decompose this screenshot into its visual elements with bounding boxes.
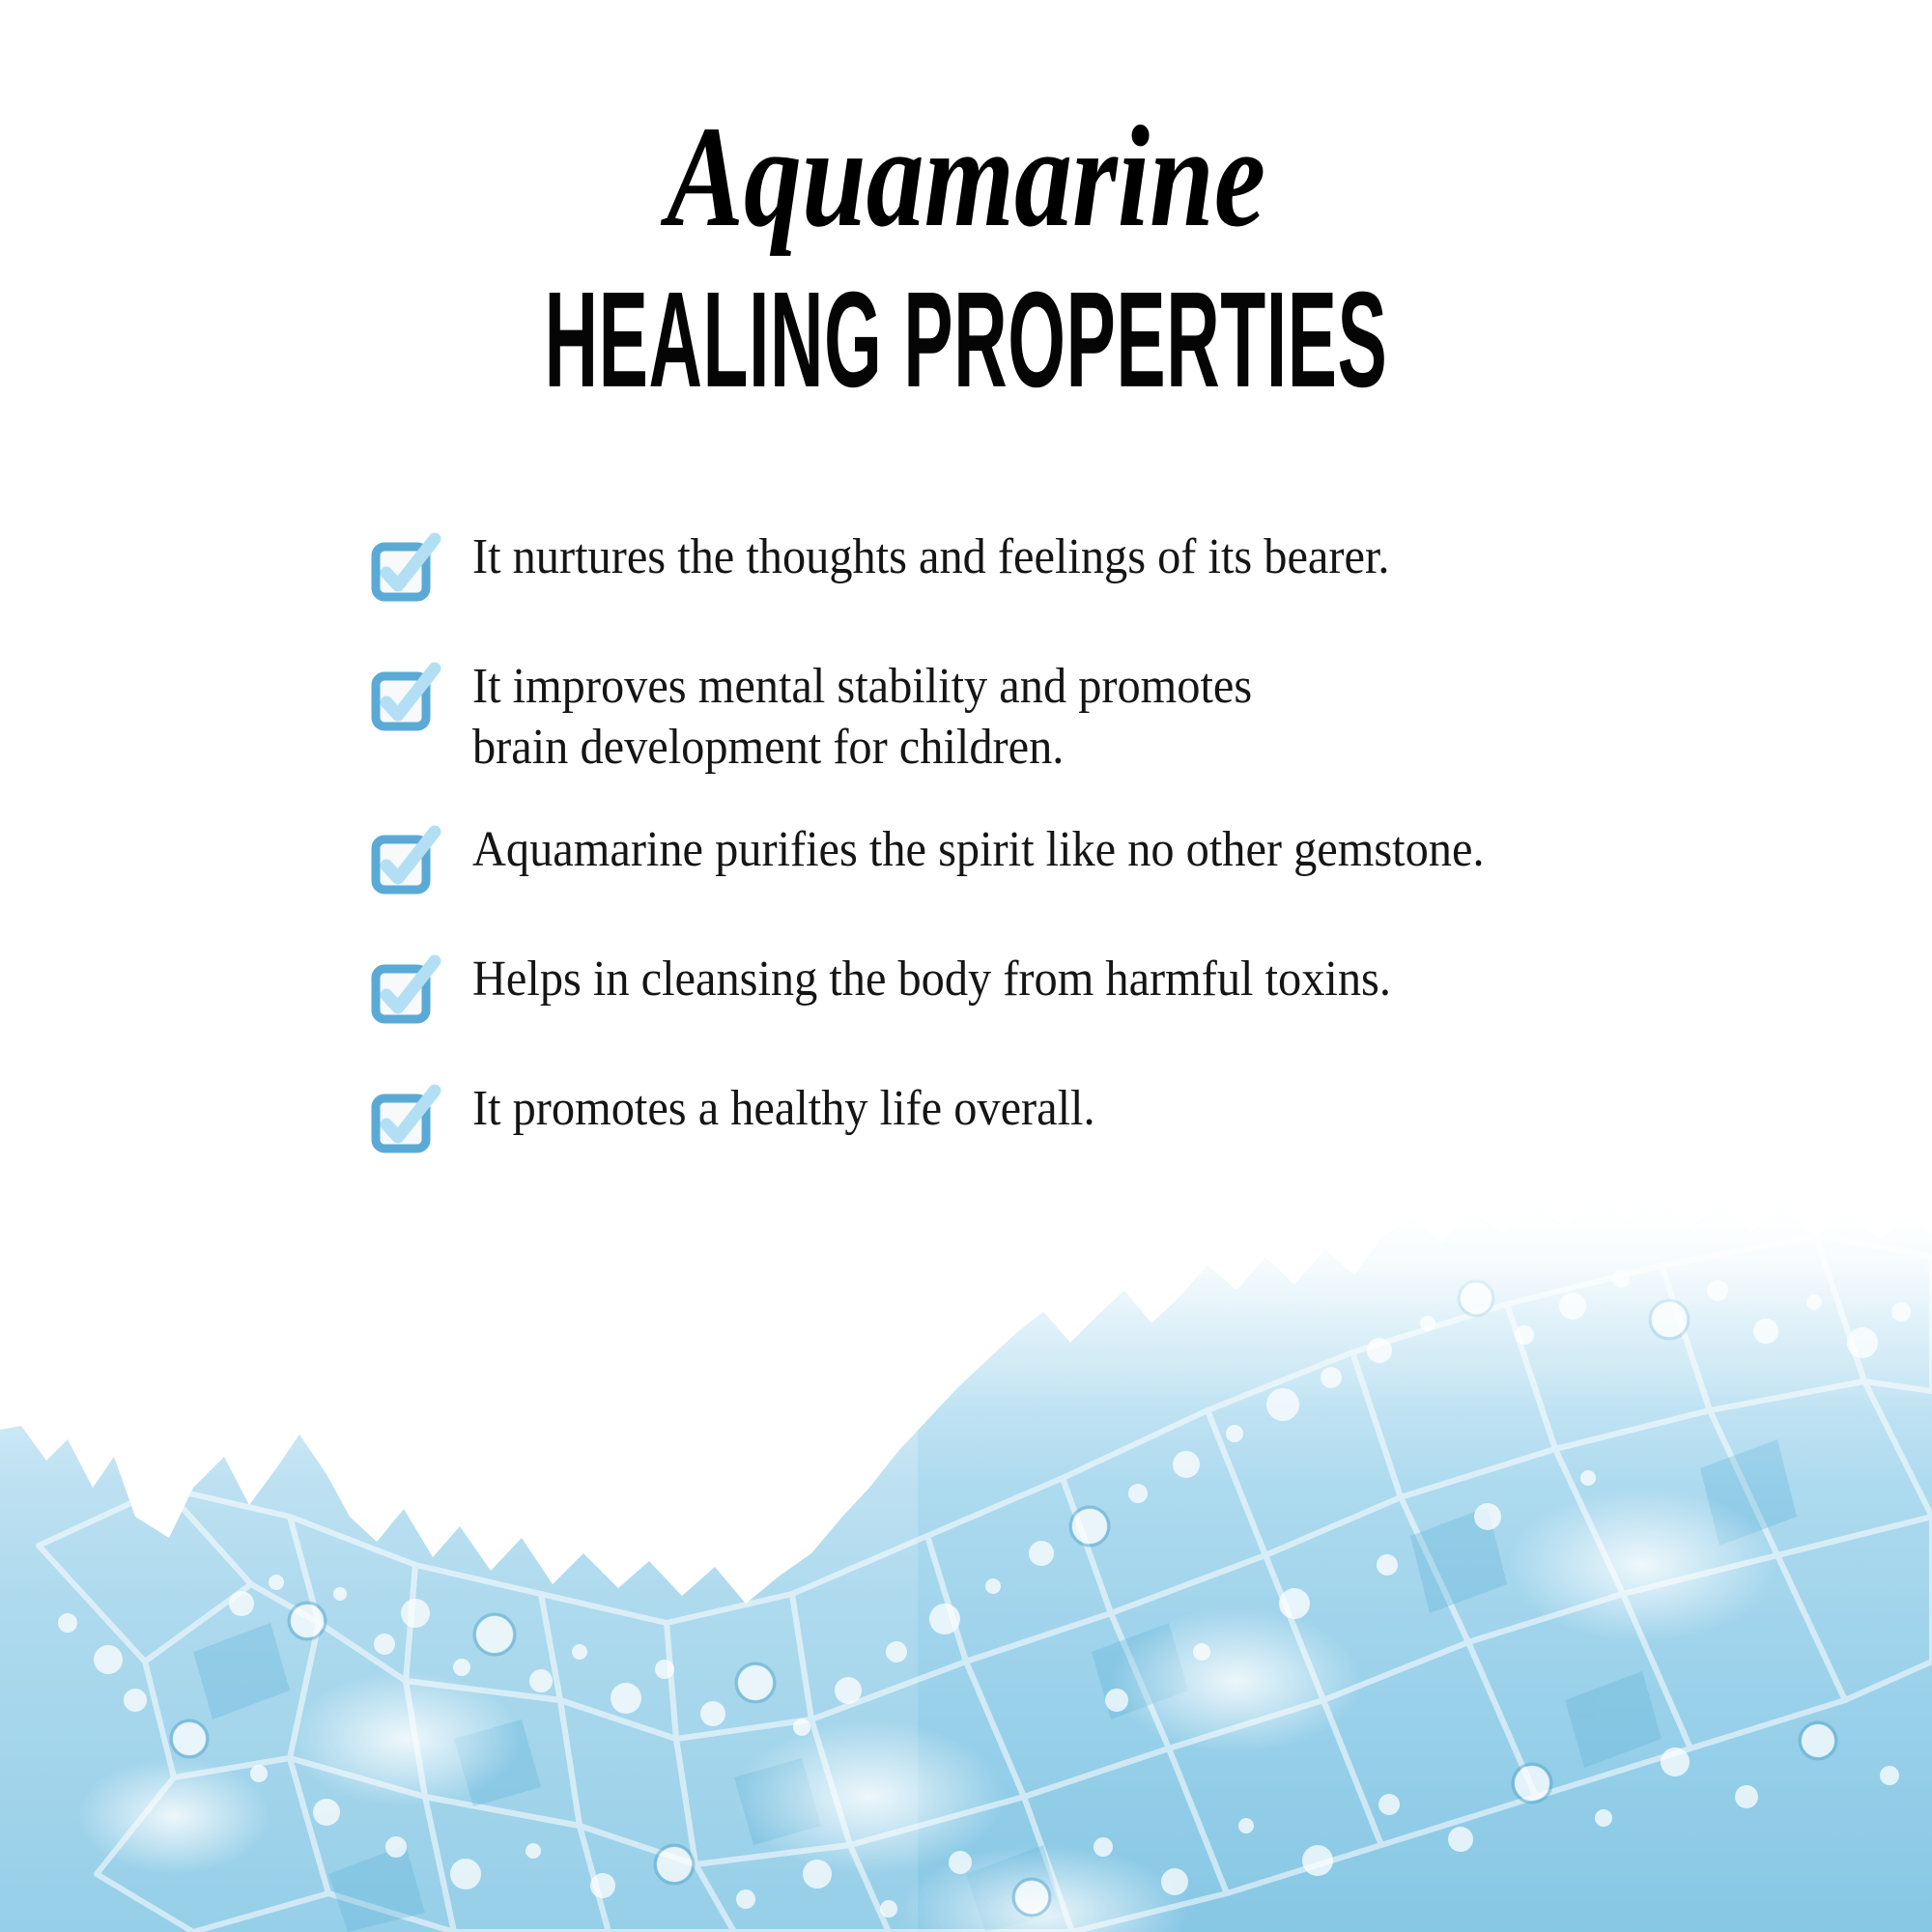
list-item: It improves mental stability and promote…	[372, 656, 1821, 779]
list-item: Helps in cleansing the body from harmful…	[372, 949, 1821, 1022]
list-item: It nurtures the thoughts and feelings of…	[372, 526, 1821, 600]
checked-checkbox-icon	[372, 1097, 426, 1151]
list-item-label: Helps in cleansing the body from harmful…	[472, 949, 1391, 1009]
healing-properties-list: It nurtures the thoughts and feelings of…	[372, 526, 1821, 1207]
checked-checkbox-icon	[372, 838, 426, 893]
ice-cubes-photo	[0, 1198, 1932, 1932]
list-item: It promotes a healthy life overall.	[372, 1078, 1821, 1151]
list-item-label: Aquamarine purifies the spirit like no o…	[472, 819, 1485, 880]
page-title-subheading: HEALING PROPERTIES	[386, 249, 1546, 409]
list-item-label: It promotes a healthy life overall.	[472, 1078, 1095, 1139]
list-item-label: It nurtures the thoughts and feelings of…	[472, 526, 1390, 587]
list-item: Aquamarine purifies the spirit like no o…	[372, 819, 1821, 893]
page-title-script: Aquamarine	[193, 0, 1739, 249]
header: Aquamarine HEALING PROPERTIES	[0, 0, 1932, 394]
checked-checkbox-icon	[372, 968, 426, 1022]
checked-checkbox-icon	[372, 675, 426, 729]
checked-checkbox-icon	[372, 546, 426, 600]
list-item-label: It improves mental stability and promote…	[472, 656, 1252, 779]
poster: Aquamarine HEALING PROPERTIES It nurture…	[0, 0, 1932, 1932]
